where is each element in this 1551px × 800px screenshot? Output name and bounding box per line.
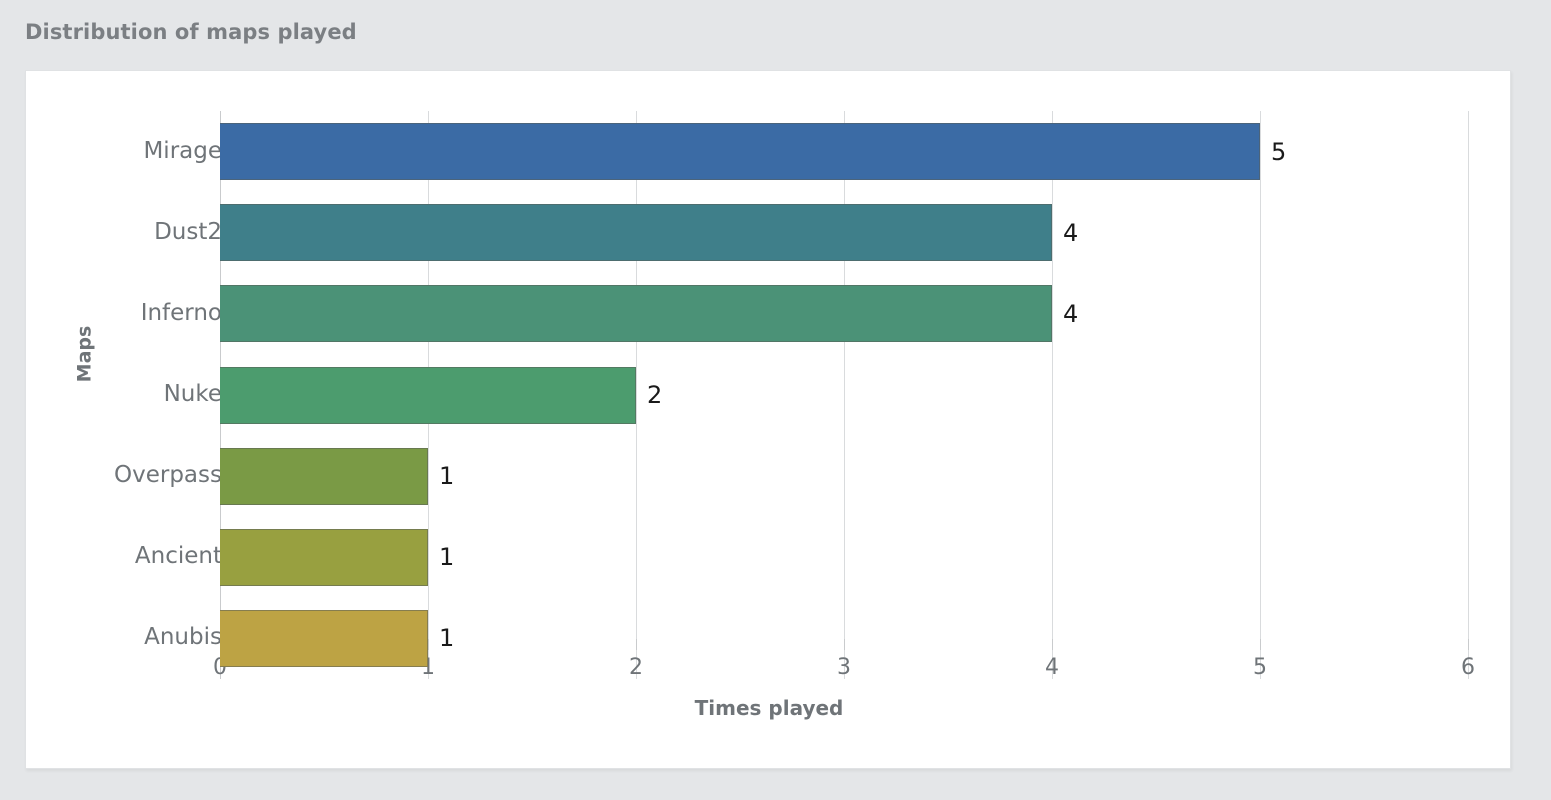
bar[interactable] bbox=[220, 285, 1052, 342]
x-tick-mark bbox=[1468, 639, 1469, 650]
x-tick-label: 5 bbox=[1253, 655, 1267, 680]
chart-page: Distribution of maps played 0123456 Mira… bbox=[0, 0, 1551, 800]
bar[interactable] bbox=[220, 204, 1052, 261]
chart-card: 0123456 Mirage5Dust24Inferno4Nuke2Overpa… bbox=[25, 70, 1511, 769]
gridline bbox=[1468, 111, 1469, 679]
bar-value-label: 5 bbox=[1271, 140, 1286, 164]
x-tick-mark bbox=[428, 639, 429, 650]
bar-value-label: 1 bbox=[439, 464, 454, 488]
y-tick-label: Dust2 bbox=[154, 221, 222, 244]
y-tick-label: Anubis bbox=[144, 626, 222, 649]
bar[interactable] bbox=[220, 123, 1260, 180]
y-tick-label: Overpass bbox=[114, 464, 222, 487]
y-tick-label: Mirage bbox=[143, 140, 222, 163]
x-axis-title: Times played bbox=[26, 696, 1512, 720]
x-tick-label: 2 bbox=[629, 655, 643, 680]
x-tick-label: 6 bbox=[1461, 655, 1475, 680]
bar[interactable] bbox=[220, 529, 428, 586]
gridline bbox=[844, 111, 845, 679]
bar-value-label: 2 bbox=[647, 383, 662, 407]
bar-value-label: 4 bbox=[1063, 221, 1078, 245]
y-tick-label: Inferno bbox=[141, 302, 222, 325]
gridline bbox=[1052, 111, 1053, 679]
gridline bbox=[1260, 111, 1261, 679]
x-tick-mark bbox=[636, 639, 637, 650]
x-tick-mark bbox=[1260, 639, 1261, 650]
bar[interactable] bbox=[220, 367, 636, 424]
page-title: Distribution of maps played bbox=[25, 20, 357, 44]
bar[interactable] bbox=[220, 448, 428, 505]
bar-value-label: 1 bbox=[439, 545, 454, 569]
gridline bbox=[636, 111, 637, 679]
x-tick-mark bbox=[1052, 639, 1053, 650]
x-tick-mark bbox=[844, 639, 845, 650]
y-tick-label: Ancient bbox=[135, 545, 222, 568]
y-tick-label: Nuke bbox=[164, 383, 222, 406]
x-tick-label: 4 bbox=[1045, 655, 1059, 680]
bar[interactable] bbox=[220, 610, 428, 667]
bar-value-label: 4 bbox=[1063, 302, 1078, 326]
x-tick-label: 3 bbox=[837, 655, 851, 680]
y-axis-title: Maps bbox=[73, 326, 95, 383]
plot-area: 0123456 Mirage5Dust24Inferno4Nuke2Overpa… bbox=[26, 71, 1512, 770]
bar-value-label: 1 bbox=[439, 626, 454, 650]
